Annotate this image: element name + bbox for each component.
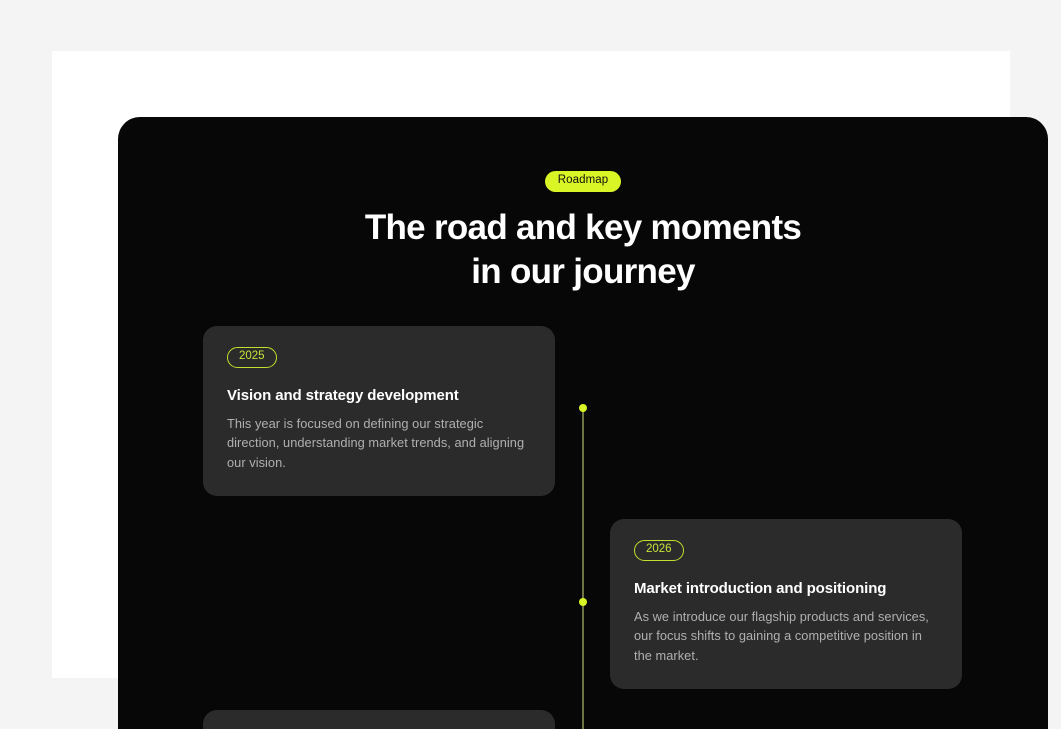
milestone-card-next[interactable]	[203, 710, 555, 729]
timeline-spine	[582, 408, 584, 729]
roadmap-header: Roadmap The road and key moments in our …	[118, 117, 1048, 295]
milestone-title: Vision and strategy development	[227, 387, 531, 404]
timeline-dot-2026	[579, 598, 587, 606]
page-title: The road and key moments in our journey	[118, 206, 1048, 296]
milestone-card-2025[interactable]: 2025 Vision and strategy development Thi…	[203, 326, 555, 496]
milestone-card-2026[interactable]: 2026 Market introduction and positioning…	[610, 519, 962, 689]
milestone-year-badge: 2025	[227, 347, 277, 368]
milestone-description: This year is focused on defining our str…	[227, 414, 531, 473]
milestone-description: As we introduce our flagship products an…	[634, 607, 938, 666]
timeline-dot-2025	[579, 404, 587, 412]
page-title-line-2: in our journey	[118, 250, 1048, 295]
milestone-title: Market introduction and positioning	[634, 580, 938, 597]
white-panel: Roadmap The road and key moments in our …	[52, 51, 1010, 678]
milestone-year-badge: 2026	[634, 540, 684, 561]
page-title-line-1: The road and key moments	[118, 206, 1048, 251]
roadmap-badge: Roadmap	[545, 171, 622, 192]
roadmap-section: Roadmap The road and key moments in our …	[118, 117, 1048, 729]
